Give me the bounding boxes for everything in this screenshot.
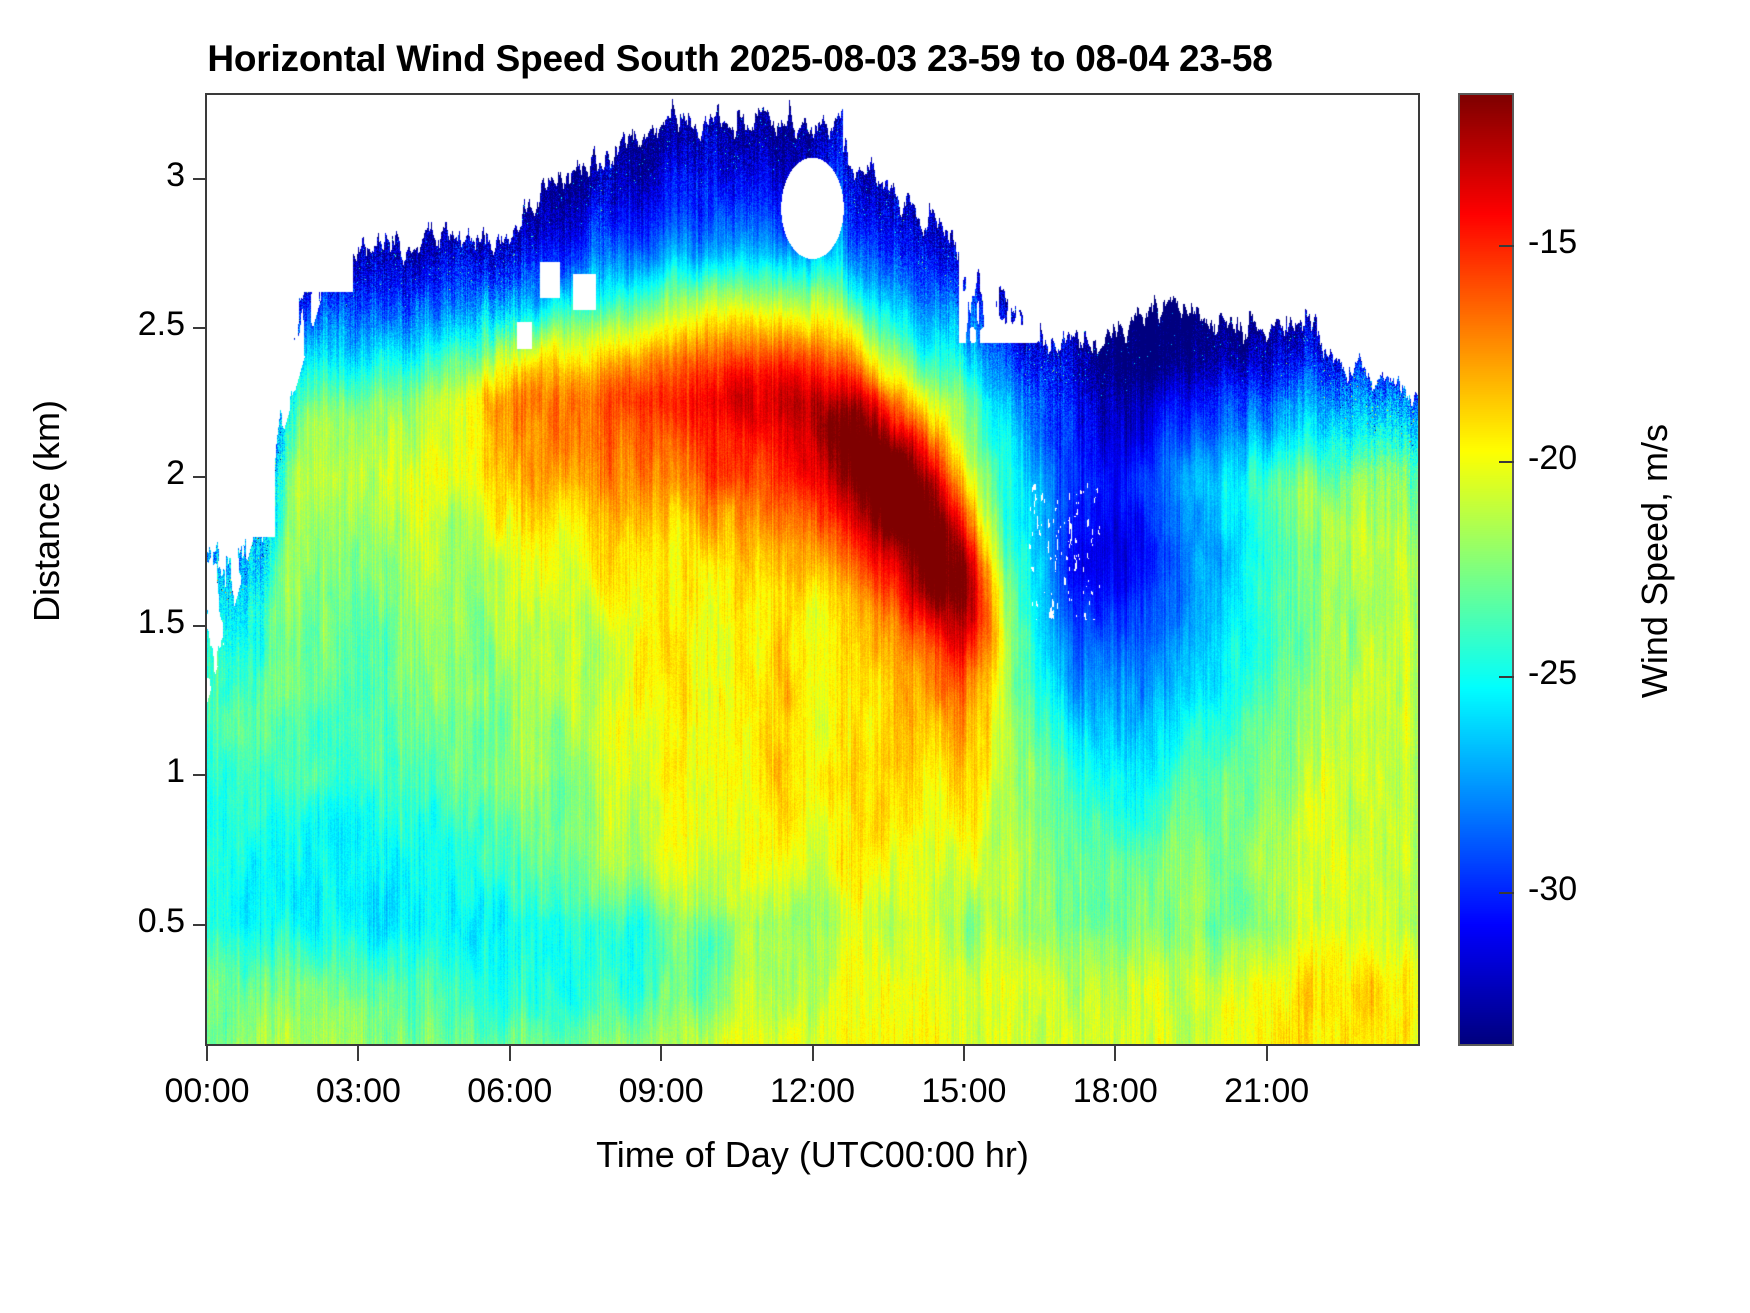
x-axis-label: Time of Day (UTC00:00 hr) bbox=[205, 1134, 1420, 1176]
y-tick-label: 2.5 bbox=[138, 305, 185, 344]
x-tick-mark bbox=[812, 1046, 814, 1061]
y-tick-mark bbox=[193, 625, 207, 627]
figure-container: Horizontal Wind Speed South 2025-08-03 2… bbox=[0, 0, 1750, 1313]
y-tick-label: 3 bbox=[166, 156, 185, 195]
y-tick-mark bbox=[193, 774, 207, 776]
colorbar-tick-mark bbox=[1499, 461, 1514, 463]
colorbar-tick-label: -15 bbox=[1528, 223, 1577, 262]
colorbar-tick-label: -30 bbox=[1528, 870, 1577, 909]
x-tick-mark bbox=[660, 1046, 662, 1061]
y-tick-label: 1 bbox=[166, 752, 185, 791]
y-axis-label: Distance (km) bbox=[26, 281, 68, 741]
colorbar-tick-label: -25 bbox=[1528, 654, 1577, 693]
y-tick-mark bbox=[193, 178, 207, 180]
x-tick-label: 21:00 bbox=[1177, 1072, 1357, 1111]
colorbar-label: Wind Speed, m/s bbox=[1634, 331, 1676, 791]
colorbar-tick-label: -20 bbox=[1528, 439, 1577, 478]
y-tick-label: 2 bbox=[166, 454, 185, 493]
y-tick-label: 0.5 bbox=[138, 902, 185, 941]
x-tick-mark bbox=[206, 1046, 208, 1061]
colorbar-tick-mark bbox=[1499, 676, 1514, 678]
wind-speed-heatmap bbox=[207, 95, 1418, 1044]
colorbar-gradient bbox=[1460, 95, 1512, 1044]
y-tick-mark bbox=[193, 476, 207, 478]
colorbar-tick-mark bbox=[1499, 892, 1514, 894]
x-tick-mark bbox=[963, 1046, 965, 1061]
colorbar bbox=[1458, 93, 1514, 1046]
plot-axes bbox=[205, 93, 1420, 1046]
colorbar-tick-mark bbox=[1499, 245, 1514, 247]
y-tick-label: 1.5 bbox=[138, 603, 185, 642]
x-tick-mark bbox=[509, 1046, 511, 1061]
x-tick-mark bbox=[357, 1046, 359, 1061]
x-tick-mark bbox=[1114, 1046, 1116, 1061]
y-tick-mark bbox=[193, 924, 207, 926]
y-tick-mark bbox=[193, 327, 207, 329]
page-title: Horizontal Wind Speed South 2025-08-03 2… bbox=[0, 38, 1480, 80]
x-tick-mark bbox=[1266, 1046, 1268, 1061]
